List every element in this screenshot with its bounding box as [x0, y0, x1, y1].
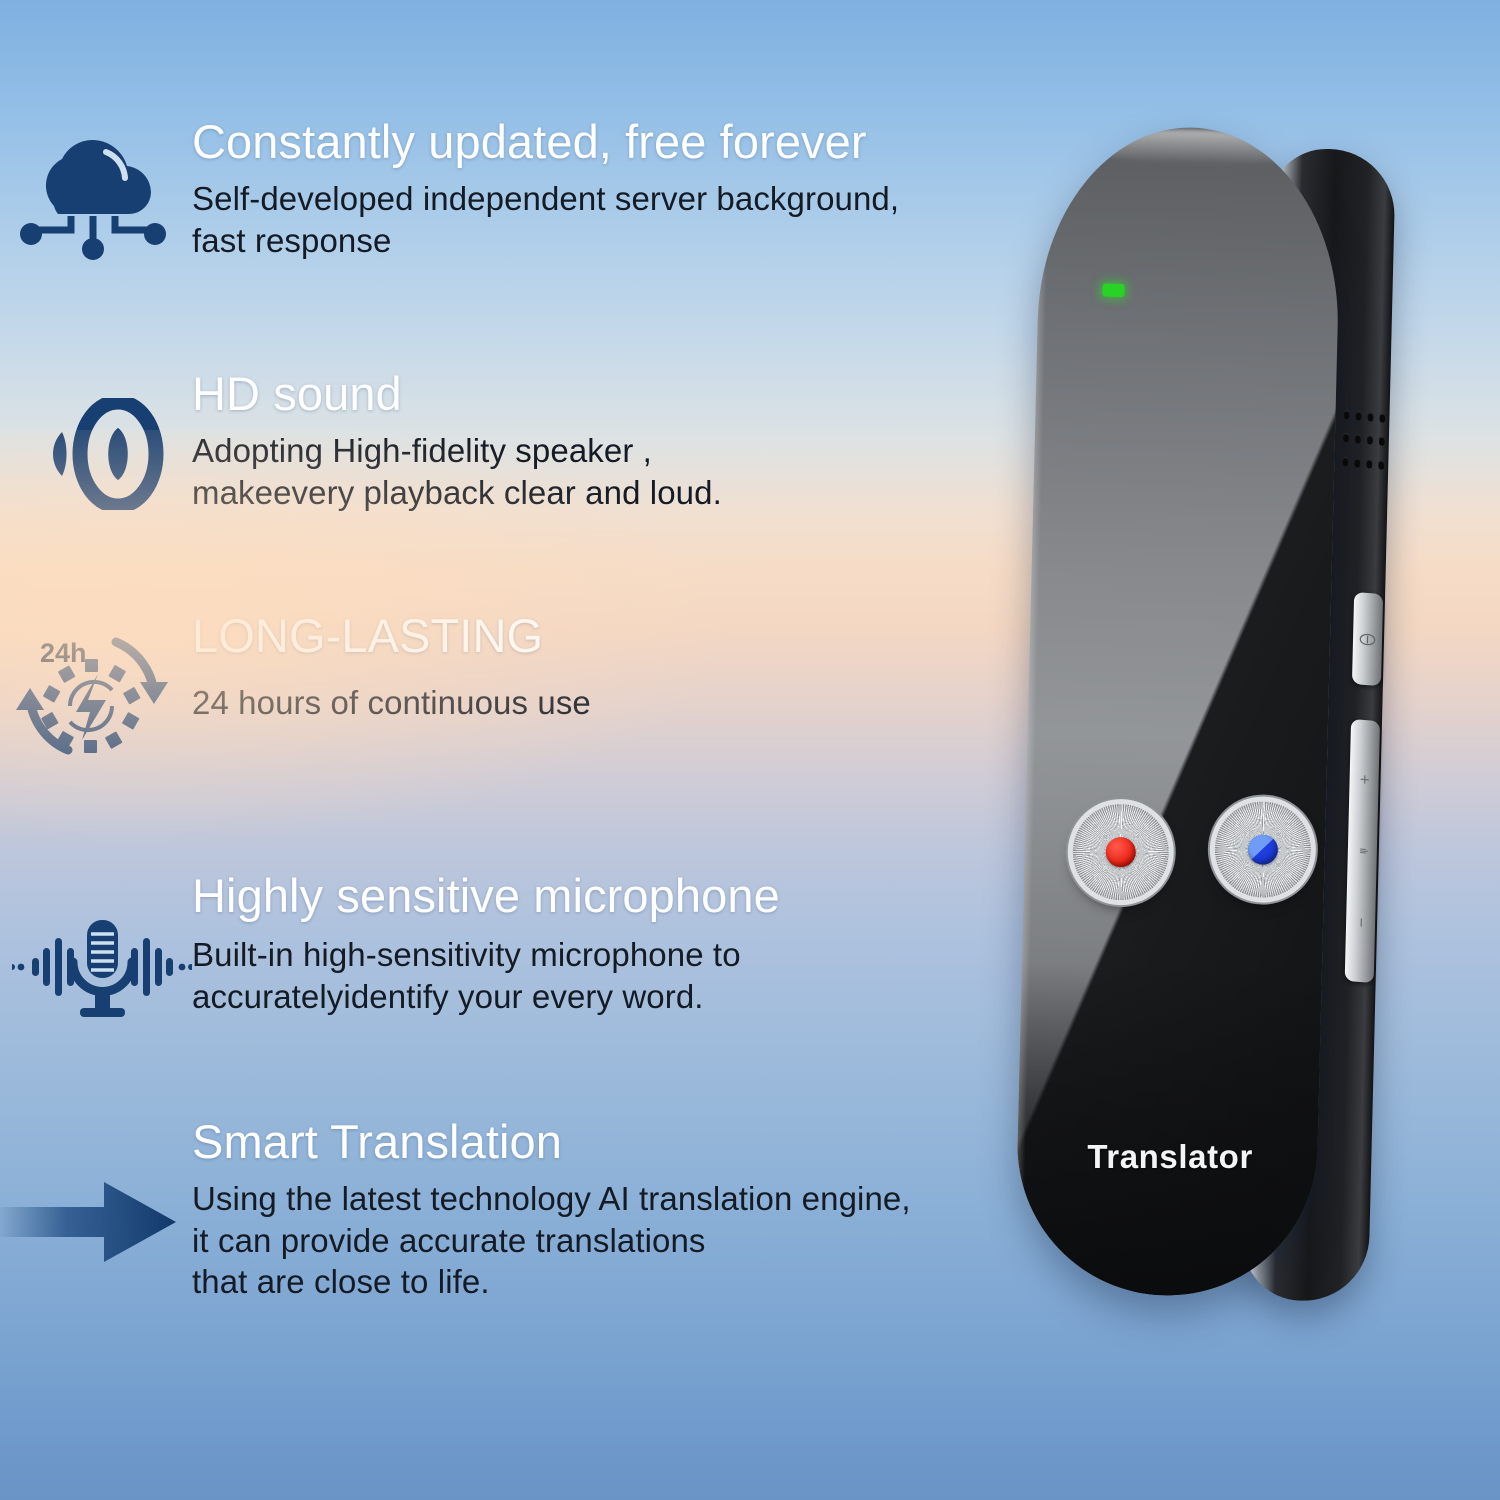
microphone-waveform-icon [12, 914, 192, 1027]
record-button-red-dot [1105, 837, 1136, 868]
speaker-sound-icon [40, 398, 170, 515]
battery-24h-label: 24h [40, 638, 87, 668]
feature-heading: Smart Translation [192, 1118, 911, 1166]
volume-down-label: − [1352, 917, 1369, 928]
volume-level-label: ılı [1357, 848, 1368, 854]
record-button-blue-dot [1248, 834, 1279, 865]
arrow-right-icon [0, 1176, 178, 1273]
feature-body: Built-in high-sensitivity microphone to … [192, 934, 780, 1017]
power-icon [1359, 630, 1376, 648]
feature-body: Self-developed independent server backgr… [192, 178, 899, 261]
device-brand-label: Translator [1087, 1138, 1307, 1176]
device-front-face: Translator [1014, 124, 1342, 1299]
translator-device: Translator + ılı − [1006, 124, 1395, 1317]
power-button[interactable] [1352, 592, 1383, 686]
volume-up-label: + [1356, 774, 1373, 785]
product-feature-banner: Constantly updated, free forever Self-de… [0, 0, 1500, 1500]
feature-heading: Constantly updated, free forever [192, 118, 899, 166]
feature-heading: HD sound [192, 370, 722, 418]
device-bottom-shading [1014, 962, 1322, 1299]
cloud-network-icon [14, 136, 172, 269]
feature-heading: Highly sensitive microphone [192, 872, 780, 920]
feature-heading: LONG-LASTING [192, 612, 591, 660]
status-led [1102, 283, 1124, 297]
speaker-grille [1342, 410, 1388, 480]
feature-body: Using the latest technology AI translati… [192, 1178, 911, 1303]
battery-24h-icon: 24h [12, 626, 172, 771]
feature-body: Adopting High-fidelity speaker , makeeve… [192, 430, 722, 513]
feature-body: 24 hours of continuous use [192, 682, 591, 724]
